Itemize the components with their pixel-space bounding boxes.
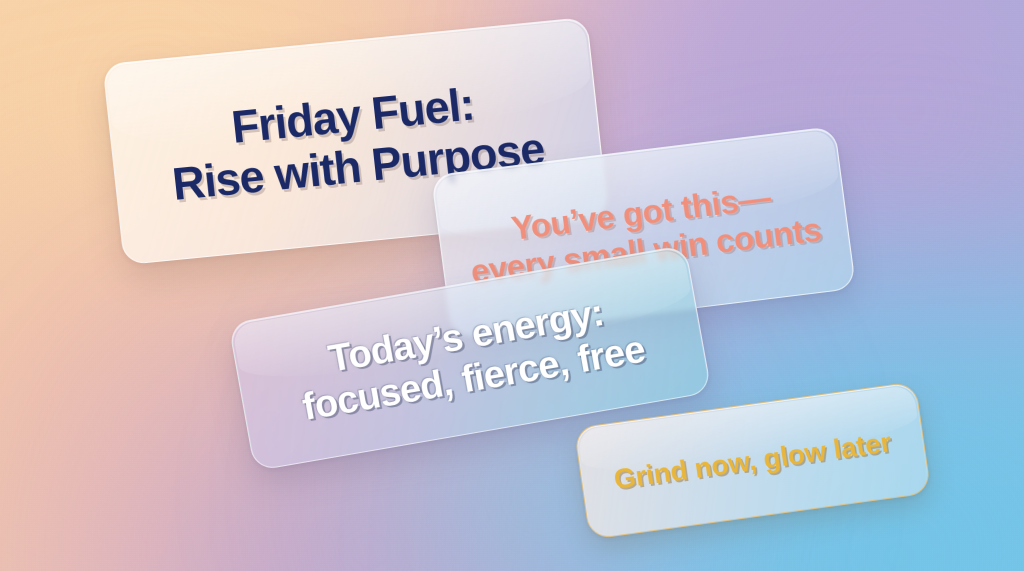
poster-canvas: Friday Fuel: Rise with Purpose You’ve go… — [0, 0, 1024, 571]
grind-now-glow-later-text: Grind now, glow later — [598, 424, 907, 497]
todays-energy-text: Today’s energy: focused, fierce, free — [278, 284, 662, 433]
